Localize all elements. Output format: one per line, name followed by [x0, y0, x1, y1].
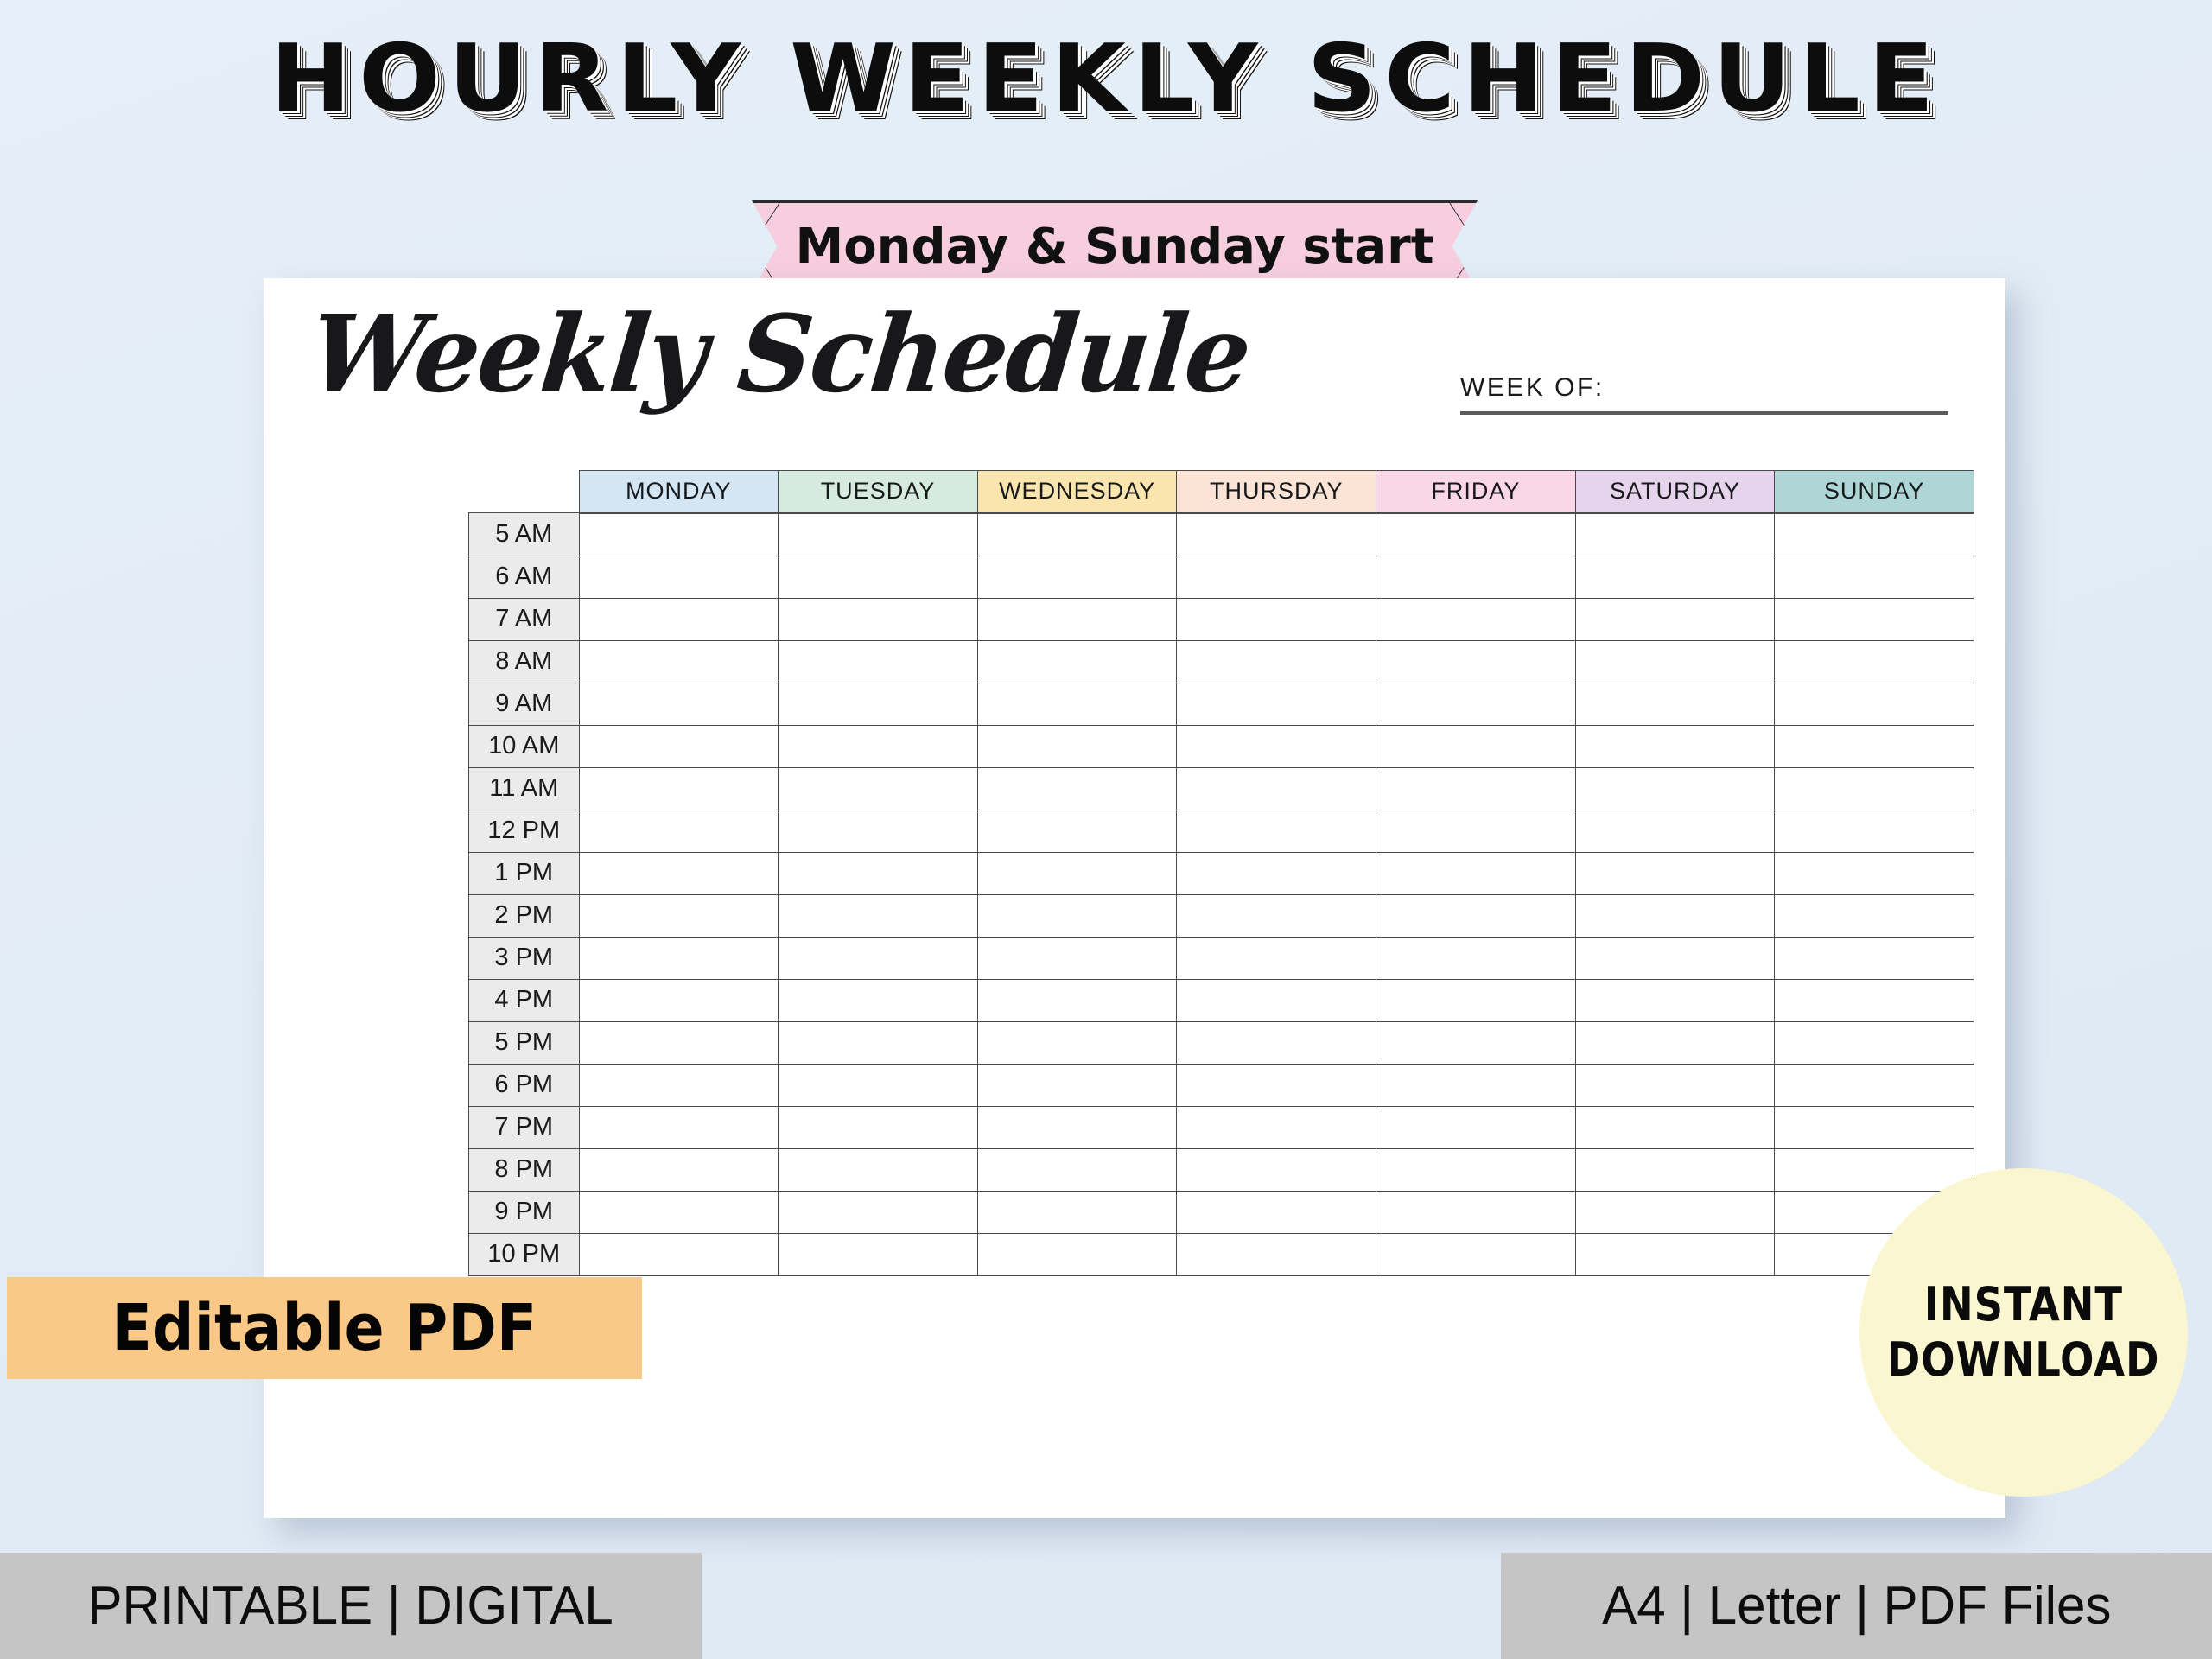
- schedule-cell[interactable]: [579, 683, 779, 725]
- schedule-cell[interactable]: [977, 852, 1177, 894]
- schedule-cell[interactable]: [1775, 767, 1974, 810]
- schedule-table: MONDAYTUESDAYWEDNESDAYTHURSDAYFRIDAYSATU…: [468, 470, 1974, 1276]
- schedule-cell[interactable]: [977, 598, 1177, 640]
- schedule-cell[interactable]: [579, 810, 779, 852]
- schedule-cell[interactable]: [1376, 767, 1576, 810]
- schedule-cell[interactable]: [1575, 512, 1775, 556]
- schedule-cell[interactable]: [1575, 894, 1775, 937]
- time-label: 2 PM: [469, 894, 580, 937]
- day-header-friday: FRIDAY: [1376, 471, 1576, 513]
- schedule-cell[interactable]: [1376, 1148, 1576, 1191]
- worksheet-title: Weekly Schedule: [304, 291, 1255, 416]
- schedule-cell[interactable]: [1775, 1148, 1974, 1191]
- schedule-cell[interactable]: [1575, 598, 1775, 640]
- schedule-cell[interactable]: [579, 640, 779, 683]
- schedule-cell[interactable]: [1376, 1064, 1576, 1106]
- schedule-cell[interactable]: [1177, 852, 1376, 894]
- schedule-cell[interactable]: [1775, 979, 1974, 1021]
- time-label: 3 PM: [469, 937, 580, 979]
- schedule-cell[interactable]: [579, 1064, 779, 1106]
- schedule-cell[interactable]: [1177, 1233, 1376, 1275]
- footer-right-label: A4 | Letter | PDF Files: [1602, 1575, 2111, 1637]
- schedule-cell[interactable]: [1575, 979, 1775, 1021]
- schedule-cell[interactable]: [1177, 1191, 1376, 1233]
- schedule-cell[interactable]: [579, 556, 779, 598]
- schedule-row: 5 AM: [469, 512, 1974, 556]
- schedule-cell[interactable]: [977, 1106, 1177, 1148]
- schedule-cell[interactable]: [1575, 1064, 1775, 1106]
- editable-pdf-badge: Editable PDF: [7, 1277, 642, 1379]
- schedule-cell[interactable]: [1575, 937, 1775, 979]
- week-of-label: WEEK OF:: [1460, 373, 1948, 403]
- schedule-cell[interactable]: [1575, 683, 1775, 725]
- schedule-cell[interactable]: [779, 598, 978, 640]
- footer-bar-left: PRINTABLE | DIGITAL: [0, 1553, 702, 1659]
- schedule-cell[interactable]: [1177, 1106, 1376, 1148]
- schedule-row: 10 PM: [469, 1233, 1974, 1275]
- schedule-cell[interactable]: [1575, 1148, 1775, 1191]
- day-header-sunday: SUNDAY: [1775, 471, 1974, 513]
- schedule-cell[interactable]: [1177, 725, 1376, 767]
- schedule-cell[interactable]: [1575, 1233, 1775, 1275]
- schedule-cell[interactable]: [1376, 894, 1576, 937]
- schedule-cell[interactable]: [1177, 1064, 1376, 1106]
- schedule-cell[interactable]: [977, 556, 1177, 598]
- schedule-row: 2 PM: [469, 894, 1974, 937]
- time-label: 1 PM: [469, 852, 580, 894]
- schedule-cell[interactable]: [579, 1106, 779, 1148]
- schedule-cell[interactable]: [579, 1233, 779, 1275]
- schedule-cell[interactable]: [977, 894, 1177, 937]
- schedule-cell[interactable]: [1376, 979, 1576, 1021]
- schedule-cell[interactable]: [977, 512, 1177, 556]
- schedule-cell[interactable]: [779, 810, 978, 852]
- schedule-row: 6 PM: [469, 1064, 1974, 1106]
- schedule-cell[interactable]: [1575, 1106, 1775, 1148]
- schedule-cell[interactable]: [1177, 512, 1376, 556]
- schedule-cell[interactable]: [977, 810, 1177, 852]
- time-label: 8 PM: [469, 1148, 580, 1191]
- schedule-cell[interactable]: [579, 1021, 779, 1064]
- schedule-cell[interactable]: [1775, 937, 1974, 979]
- schedule-cell[interactable]: [977, 767, 1177, 810]
- schedule-cell[interactable]: [779, 852, 978, 894]
- schedule-cell[interactable]: [579, 852, 779, 894]
- schedule-cell[interactable]: [1376, 1021, 1576, 1064]
- schedule-cell[interactable]: [579, 894, 779, 937]
- schedule-row: 9 AM: [469, 683, 1974, 725]
- schedule-grid: MONDAYTUESDAYWEDNESDAYTHURSDAYFRIDAYSATU…: [468, 470, 1974, 1276]
- day-header-row: MONDAYTUESDAYWEDNESDAYTHURSDAYFRIDAYSATU…: [469, 471, 1974, 513]
- schedule-cell[interactable]: [1775, 1106, 1974, 1148]
- time-label: 12 PM: [469, 810, 580, 852]
- time-label: 9 AM: [469, 683, 580, 725]
- schedule-cell[interactable]: [779, 1191, 978, 1233]
- time-label: 5 AM: [469, 512, 580, 556]
- schedule-cell[interactable]: [977, 979, 1177, 1021]
- schedule-cell[interactable]: [579, 1148, 779, 1191]
- schedule-cell[interactable]: [779, 1021, 978, 1064]
- schedule-cell[interactable]: [779, 1106, 978, 1148]
- schedule-cell[interactable]: [1177, 598, 1376, 640]
- schedule-cell[interactable]: [1177, 937, 1376, 979]
- time-label: 10 AM: [469, 725, 580, 767]
- time-column-header: [469, 471, 580, 513]
- schedule-cell[interactable]: [1376, 725, 1576, 767]
- schedule-cell[interactable]: [1575, 1191, 1775, 1233]
- instant-download-line2: DOWNLOAD: [1887, 1332, 2160, 1388]
- schedule-cell[interactable]: [779, 979, 978, 1021]
- footer-bar-right: A4 | Letter | PDF Files: [1501, 1553, 2212, 1659]
- schedule-cell[interactable]: [1376, 556, 1576, 598]
- schedule-cell[interactable]: [579, 937, 779, 979]
- schedule-cell[interactable]: [579, 598, 779, 640]
- schedule-cell[interactable]: [1376, 810, 1576, 852]
- schedule-cell[interactable]: [1775, 512, 1974, 556]
- schedule-cell[interactable]: [1575, 725, 1775, 767]
- schedule-row: 6 AM: [469, 556, 1974, 598]
- schedule-cell[interactable]: [1177, 767, 1376, 810]
- schedule-cell[interactable]: [779, 1233, 978, 1275]
- schedule-row: 4 PM: [469, 979, 1974, 1021]
- schedule-row: 7 AM: [469, 598, 1974, 640]
- schedule-row: 3 PM: [469, 937, 1974, 979]
- schedule-cell[interactable]: [779, 512, 978, 556]
- time-label: 4 PM: [469, 979, 580, 1021]
- schedule-row: 5 PM: [469, 1021, 1974, 1064]
- schedule-cell[interactable]: [977, 725, 1177, 767]
- day-header-tuesday: TUESDAY: [779, 471, 978, 513]
- schedule-cell[interactable]: [1376, 598, 1576, 640]
- day-header-saturday: SATURDAY: [1575, 471, 1775, 513]
- schedule-cell[interactable]: [779, 556, 978, 598]
- schedule-row: 8 AM: [469, 640, 1974, 683]
- schedule-cell[interactable]: [1177, 683, 1376, 725]
- schedule-cell[interactable]: [1775, 683, 1974, 725]
- footer-left-label: PRINTABLE | DIGITAL: [88, 1575, 613, 1637]
- schedule-cell[interactable]: [1177, 1148, 1376, 1191]
- schedule-cell[interactable]: [1775, 810, 1974, 852]
- schedule-cell[interactable]: [1376, 640, 1576, 683]
- schedule-cell[interactable]: [1775, 852, 1974, 894]
- instant-download-badge: INSTANT DOWNLOAD: [1859, 1168, 2188, 1497]
- schedule-cell[interactable]: [977, 683, 1177, 725]
- schedule-cell[interactable]: [1177, 894, 1376, 937]
- day-header-wednesday: WEDNESDAY: [977, 471, 1177, 513]
- schedule-cell[interactable]: [1177, 810, 1376, 852]
- day-header-monday: MONDAY: [579, 471, 779, 513]
- page-title: HOURLY WEEKLY SCHEDULE: [270, 29, 1942, 130]
- schedule-cell[interactable]: [579, 725, 779, 767]
- schedule-cell[interactable]: [977, 937, 1177, 979]
- schedule-cell[interactable]: [1775, 1064, 1974, 1106]
- schedule-cell[interactable]: [1376, 937, 1576, 979]
- time-label: 6 AM: [469, 556, 580, 598]
- schedule-cell[interactable]: [579, 1191, 779, 1233]
- schedule-cell[interactable]: [1376, 1106, 1576, 1148]
- schedule-body: 5 AM6 AM7 AM8 AM9 AM10 AM11 AM12 PM1 PM2…: [469, 512, 1974, 1275]
- schedule-cell[interactable]: [1376, 1233, 1576, 1275]
- time-label: 11 AM: [469, 767, 580, 810]
- schedule-row: 8 PM: [469, 1148, 1974, 1191]
- schedule-cell[interactable]: [1775, 894, 1974, 937]
- time-label: 7 AM: [469, 598, 580, 640]
- schedule-cell[interactable]: [977, 1021, 1177, 1064]
- time-label: 8 AM: [469, 640, 580, 683]
- subtitle-text: Monday & Sunday start: [795, 219, 1433, 275]
- schedule-cell[interactable]: [1376, 683, 1576, 725]
- schedule-cell[interactable]: [977, 1148, 1177, 1191]
- time-label: 10 PM: [469, 1233, 580, 1275]
- schedule-row: 11 AM: [469, 767, 1974, 810]
- schedule-cell[interactable]: [977, 640, 1177, 683]
- schedule-cell[interactable]: [1376, 512, 1576, 556]
- schedule-cell[interactable]: [1177, 556, 1376, 598]
- schedule-cell[interactable]: [579, 767, 779, 810]
- week-of-field[interactable]: WEEK OF:: [1460, 373, 1948, 415]
- schedule-cell[interactable]: [1177, 1021, 1376, 1064]
- schedule-cell[interactable]: [1575, 767, 1775, 810]
- schedule-cell[interactable]: [779, 640, 978, 683]
- schedule-cell[interactable]: [1575, 640, 1775, 683]
- editable-pdf-label: Editable PDF: [112, 1291, 537, 1365]
- schedule-cell[interactable]: [1775, 640, 1974, 683]
- schedule-cell[interactable]: [779, 767, 978, 810]
- schedule-cell[interactable]: [1775, 1021, 1974, 1064]
- schedule-cell[interactable]: [977, 1191, 1177, 1233]
- schedule-cell[interactable]: [1575, 1021, 1775, 1064]
- schedule-cell[interactable]: [1575, 852, 1775, 894]
- schedule-cell[interactable]: [1775, 725, 1974, 767]
- time-label: 7 PM: [469, 1106, 580, 1148]
- schedule-cell[interactable]: [1575, 556, 1775, 598]
- schedule-cell[interactable]: [977, 1064, 1177, 1106]
- schedule-cell[interactable]: [779, 894, 978, 937]
- title-container: HOURLY WEEKLY SCHEDULE: [0, 29, 2212, 130]
- schedule-cell[interactable]: [1177, 640, 1376, 683]
- schedule-cell[interactable]: [1775, 598, 1974, 640]
- schedule-cell[interactable]: [779, 1148, 978, 1191]
- schedule-cell[interactable]: [1376, 1191, 1576, 1233]
- schedule-cell[interactable]: [779, 1064, 978, 1106]
- day-header-thursday: THURSDAY: [1177, 471, 1376, 513]
- schedule-row: 1 PM: [469, 852, 1974, 894]
- schedule-cell[interactable]: [1775, 556, 1974, 598]
- time-label: 5 PM: [469, 1021, 580, 1064]
- schedule-row: 12 PM: [469, 810, 1974, 852]
- schedule-row: 10 AM: [469, 725, 1974, 767]
- schedule-row: 7 PM: [469, 1106, 1974, 1148]
- schedule-cell[interactable]: [779, 683, 978, 725]
- schedule-cell[interactable]: [779, 937, 978, 979]
- schedule-cell[interactable]: [779, 725, 978, 767]
- schedule-cell[interactable]: [579, 979, 779, 1021]
- time-label: 9 PM: [469, 1191, 580, 1233]
- schedule-cell[interactable]: [579, 512, 779, 556]
- schedule-cell[interactable]: [1177, 979, 1376, 1021]
- week-of-writing-line[interactable]: [1460, 411, 1948, 415]
- schedule-row: 9 PM: [469, 1191, 1974, 1233]
- schedule-cell[interactable]: [977, 1233, 1177, 1275]
- instant-download-line1: INSTANT: [1924, 1277, 2123, 1332]
- time-label: 6 PM: [469, 1064, 580, 1106]
- schedule-cell[interactable]: [1376, 852, 1576, 894]
- schedule-cell[interactable]: [1575, 810, 1775, 852]
